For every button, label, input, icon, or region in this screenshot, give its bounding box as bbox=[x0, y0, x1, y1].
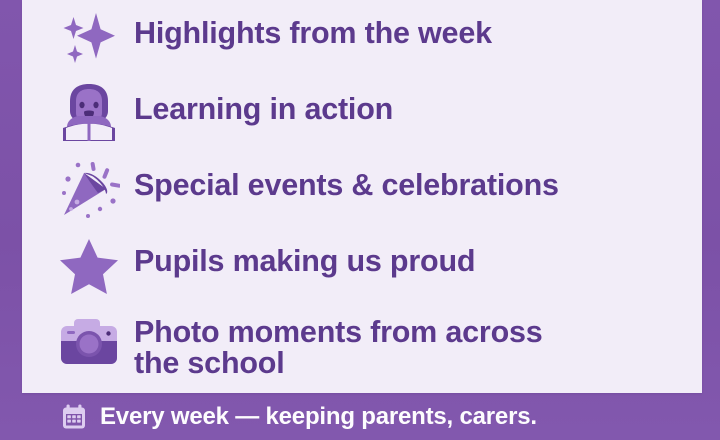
list-item: Pupils making us proud bbox=[22, 228, 702, 304]
party-popper-icon bbox=[56, 152, 134, 228]
list-item-label: Special events & celebrations bbox=[134, 152, 702, 201]
list-item-label: Highlights from the week bbox=[134, 0, 702, 49]
list-item: Photo moments from across the school bbox=[22, 304, 702, 382]
feature-list-panel: Highlights from the week bbox=[22, 0, 702, 393]
calendar-icon bbox=[60, 403, 100, 431]
feature-list: Highlights from the week bbox=[22, 0, 702, 382]
camera-icon bbox=[56, 304, 134, 380]
list-item: Learning in action bbox=[22, 76, 702, 152]
list-item-label: Pupils making us proud bbox=[134, 228, 702, 277]
poster-canvas: Highlights from the week bbox=[0, 0, 720, 440]
footer-text: Every week — keeping parents, carers. bbox=[100, 405, 537, 429]
list-item: Highlights from the week bbox=[22, 0, 702, 76]
star-icon bbox=[56, 228, 134, 304]
person-reading-book-icon bbox=[56, 76, 134, 152]
list-item-label: Learning in action bbox=[134, 76, 702, 125]
list-item-label: Photo moments from across the school bbox=[134, 304, 702, 379]
sparkles-icon bbox=[56, 0, 134, 76]
footer-bar: Every week — keeping parents, carers. bbox=[22, 393, 720, 440]
list-item: Special events & celebrations bbox=[22, 152, 702, 228]
